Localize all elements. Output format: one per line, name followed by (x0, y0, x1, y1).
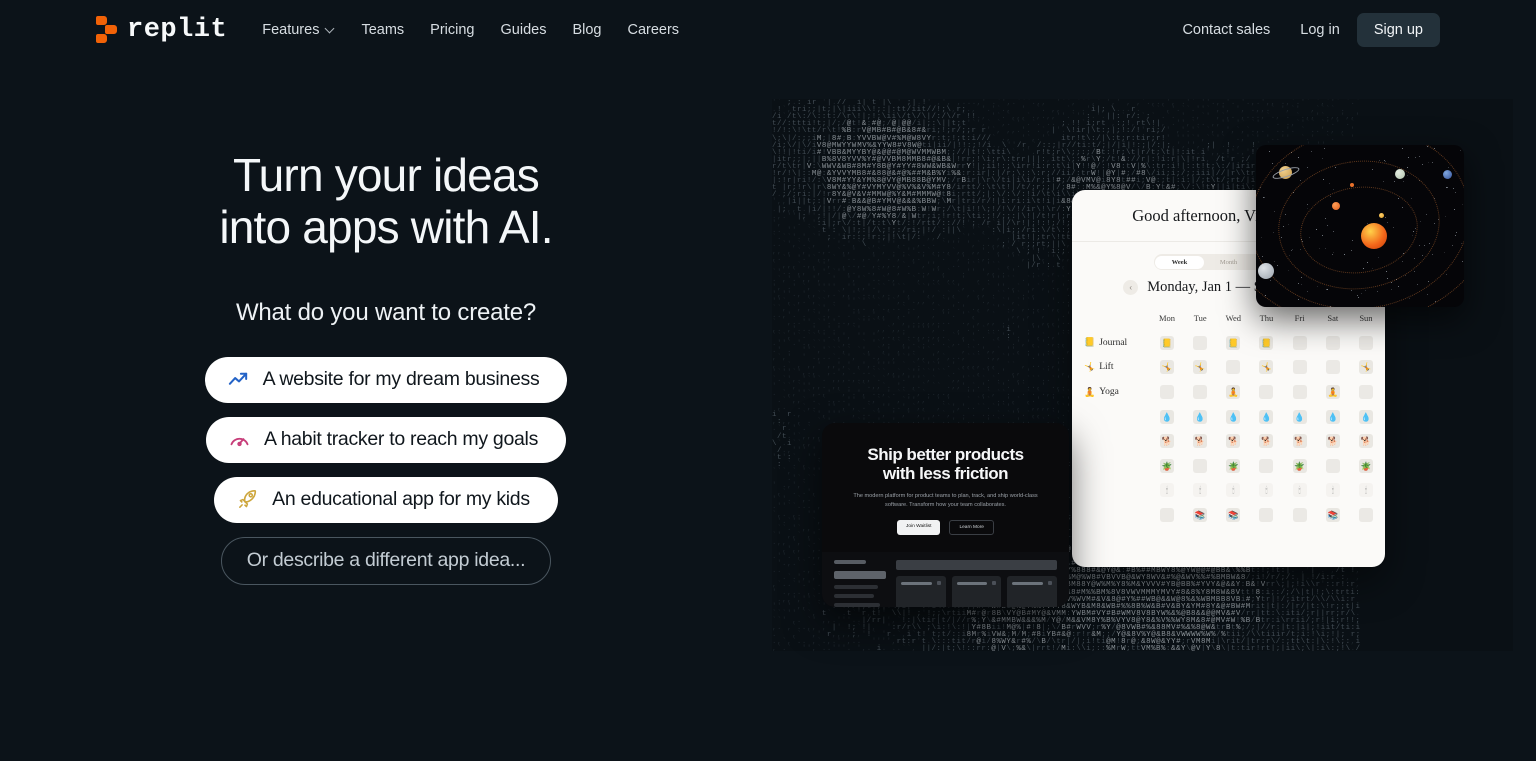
habit-day-cell[interactable]: 🪴 (1359, 459, 1373, 473)
product-card-actions: Join Waitlist Learn More (842, 520, 1049, 535)
habit-day-cell[interactable]: 📒 (1259, 336, 1273, 350)
planet-planet-moon (1258, 263, 1274, 279)
prompt-custom-idea[interactable]: Or describe a different app idea... (221, 537, 552, 585)
habit-day-cell[interactable]: 🕯 (1193, 483, 1207, 497)
habit-day-cell[interactable]: 🤸 (1359, 360, 1373, 374)
headline-line-1: Turn your ideas (219, 150, 552, 202)
prompt-educational-app-label: An educational app for my kids (272, 488, 530, 511)
habit-day-cell[interactable]: 🕯 (1226, 483, 1240, 497)
habit-day-cell[interactable]: 📚 (1193, 508, 1207, 522)
habit-day-cell[interactable] (1259, 385, 1273, 399)
nav-actions: Contact sales Log in Sign up (1169, 13, 1440, 47)
contact-sales-link[interactable]: Contact sales (1169, 16, 1283, 44)
prompt-website-business-label: A website for my dream business (263, 368, 540, 391)
brand-wordmark: replit (127, 15, 227, 45)
nav-item-guides[interactable]: Guides (488, 16, 560, 44)
product-card-app-preview (822, 552, 1069, 607)
habit-day-cell[interactable]: 🕯 (1160, 483, 1174, 497)
product-card-title-line-1: Ship better products (842, 445, 1049, 464)
habit-day-cell[interactable] (1293, 508, 1307, 522)
habit-day-cell[interactable] (1259, 508, 1273, 522)
habit-day-cell[interactable]: 🐕 (1359, 434, 1373, 448)
app-preview-main (896, 560, 1057, 607)
habit-day-cell[interactable]: 💧 (1160, 410, 1174, 424)
top-navigation-bar: replit Features Teams Pricing Guides Blo… (0, 0, 1536, 59)
app-preview-cards (896, 576, 1057, 607)
nav-item-features-label: Features (262, 22, 319, 38)
habit-day-cell[interactable]: 🕯 (1259, 483, 1273, 497)
habit-day-cell[interactable] (1160, 385, 1174, 399)
habit-day-cell[interactable] (1326, 459, 1340, 473)
chevron-down-icon (326, 25, 335, 34)
gauge-icon (228, 428, 251, 451)
habit-day-cell[interactable]: 💧 (1293, 410, 1307, 424)
habit-day-cell[interactable]: 💧 (1226, 410, 1240, 424)
prompt-suggestion-list: A website for my dream business A habit … (205, 357, 568, 585)
habit-day-cell[interactable]: 🐕 (1326, 434, 1340, 448)
habit-day-cell[interactable]: 🐕 (1259, 434, 1273, 448)
app-preview-card (896, 576, 946, 607)
habit-day-cell[interactable] (1193, 336, 1207, 350)
habit-day-header: Sat (1326, 311, 1340, 325)
habit-day-cell[interactable]: 🤸 (1160, 360, 1174, 374)
habit-day-cell[interactable]: 📚 (1226, 508, 1240, 522)
planet-planet-neptune (1443, 170, 1452, 179)
habit-day-cell[interactable] (1359, 385, 1373, 399)
habit-row: 📚📚📚 (1084, 503, 1373, 528)
prompt-website-business[interactable]: A website for my dream business (205, 357, 568, 403)
product-card-title-line-2: with less friction (842, 464, 1049, 483)
habit-row: 🕯🕯🕯🕯🕯🕯🕯 (1084, 478, 1373, 503)
nav-item-features[interactable]: Features (249, 16, 348, 44)
prompt-habit-tracker-label: A habit tracker to reach my goals (264, 428, 538, 451)
page-title: Turn your ideas into apps with AI. (219, 150, 552, 254)
habit-day-cell[interactable]: 🪴 (1226, 459, 1240, 473)
habit-day-header: Fri (1293, 311, 1307, 325)
hero-subheading: What do you want to create? (236, 299, 536, 327)
habit-day-cell[interactable]: 🐕 (1160, 434, 1174, 448)
habit-row: 💧💧💧💧💧💧💧 (1084, 404, 1373, 429)
habit-emoji-icon: 🤸 (1084, 362, 1095, 373)
join-waitlist-button[interactable]: Join Waitlist (897, 520, 940, 535)
habit-row-name: 📒Journal (1084, 337, 1160, 348)
habit-row-name: 🧘Yoga (1084, 387, 1160, 398)
habit-day-cell[interactable]: 🕯 (1359, 483, 1373, 497)
habit-day-cell[interactable]: 📒 (1160, 336, 1174, 350)
habit-day-cell[interactable] (1193, 459, 1207, 473)
habit-day-header: Sun (1359, 311, 1373, 325)
habit-day-cell[interactable] (1193, 385, 1207, 399)
habit-emoji-icon: 🧘 (1084, 387, 1095, 398)
nav-item-careers[interactable]: Careers (614, 16, 692, 44)
headline-line-2: into apps with AI. (219, 202, 552, 254)
habit-row: 📒Journal📒📒📒 (1084, 331, 1373, 356)
habit-day-cell[interactable]: 🧘 (1326, 385, 1340, 399)
habit-day-cell[interactable]: 🐕 (1226, 434, 1240, 448)
sign-up-button[interactable]: Sign up (1357, 13, 1440, 47)
trending-up-icon (227, 368, 250, 391)
habit-day-header: Thu (1259, 311, 1273, 325)
habit-day-cell[interactable] (1226, 360, 1240, 374)
habit-day-cell[interactable]: 💧 (1193, 410, 1207, 424)
habit-day-cell[interactable]: 🐕 (1193, 434, 1207, 448)
replit-logo-icon (96, 16, 118, 44)
planet-planet-mercury (1350, 183, 1354, 187)
nav-item-pricing[interactable]: Pricing (417, 16, 487, 44)
hero-left-column: Turn your ideas into apps with AI. What … (0, 150, 772, 585)
habit-day-cell[interactable]: 🪴 (1160, 459, 1174, 473)
habit-day-cell[interactable]: 🐕 (1293, 434, 1307, 448)
habit-day-cell[interactable] (1359, 508, 1373, 522)
habit-day-cell[interactable] (1293, 360, 1307, 374)
planet-planet-venus (1379, 213, 1384, 218)
habit-day-cell[interactable]: 🕯 (1293, 483, 1307, 497)
prompt-educational-app[interactable]: An educational app for my kids (214, 477, 558, 523)
habit-period-week[interactable]: Week (1155, 256, 1204, 269)
habit-day-cell[interactable]: 🪴 (1293, 459, 1307, 473)
log-in-link[interactable]: Log in (1287, 16, 1353, 44)
habit-row: 🤸Lift🤸🤸🤸🤸 (1084, 355, 1373, 380)
replit-logo-link[interactable]: replit (96, 15, 227, 45)
habit-day-cell[interactable] (1359, 336, 1373, 350)
habit-row: 🐕🐕🐕🐕🐕🐕🐕 (1084, 429, 1373, 454)
habit-day-cell[interactable]: 📚 (1326, 508, 1340, 522)
product-card-subtitle: The modern platform for product teams to… (842, 492, 1049, 510)
app-preview-card (1007, 576, 1057, 607)
product-card-title: Ship better products with less friction (842, 445, 1049, 483)
habit-emoji-icon: 📒 (1084, 337, 1095, 348)
habit-day-cell[interactable] (1326, 336, 1340, 350)
habit-day-cell[interactable]: 📒 (1226, 336, 1240, 350)
habit-day-cell[interactable] (1293, 336, 1307, 350)
solar-system-demo-card[interactable] (1256, 145, 1464, 307)
learn-more-button[interactable]: Learn More (949, 520, 994, 535)
habit-day-cell[interactable]: 🤸 (1259, 360, 1273, 374)
habit-row: 🧘Yoga🧘🧘 (1084, 380, 1373, 405)
chevron-left-icon[interactable]: ‹ (1123, 280, 1138, 295)
habit-day-cell[interactable] (1293, 385, 1307, 399)
habit-day-header: Mon (1160, 311, 1174, 325)
nav-item-blog[interactable]: Blog (559, 16, 614, 44)
habit-day-cell[interactable]: 💧 (1259, 410, 1273, 424)
habit-day-cell[interactable]: 🕯 (1326, 483, 1340, 497)
habit-day-header: Wed (1226, 311, 1240, 325)
habit-day-cell[interactable] (1326, 360, 1340, 374)
planet-planet-mars (1332, 202, 1340, 210)
habit-grid-header: MonTueWedThuFriSatSun (1084, 306, 1373, 331)
habit-day-cell[interactable] (1259, 459, 1273, 473)
rocket-icon (236, 488, 259, 511)
prompt-custom-idea-label: Or describe a different app idea... (247, 549, 526, 572)
habit-period-month[interactable]: Month (1204, 256, 1253, 269)
habit-grid: MonTueWedThuFriSatSun📒Journal📒📒📒🤸Lift🤸🤸🤸… (1072, 306, 1385, 527)
planet-planet-uranus (1395, 169, 1405, 179)
nav-item-teams[interactable]: Teams (348, 16, 417, 44)
habit-row: 🪴🪴🪴🪴 (1084, 454, 1373, 479)
habit-day-cell[interactable] (1160, 508, 1174, 522)
product-landing-demo-card[interactable]: Ship better products with less friction … (822, 423, 1069, 607)
habit-day-cell[interactable]: 🤸 (1193, 360, 1207, 374)
app-preview-sidebar (834, 560, 886, 607)
primary-nav-links: Features Teams Pricing Guides Blog Caree… (249, 16, 692, 44)
habit-day-cell[interactable]: 🧘 (1226, 385, 1240, 399)
planet-sun (1361, 223, 1387, 249)
habit-day-cell[interactable]: 💧 (1326, 410, 1340, 424)
prompt-habit-tracker[interactable]: A habit tracker to reach my goals (206, 417, 566, 463)
habit-day-header: Tue (1193, 311, 1207, 325)
habit-row-name: 🤸Lift (1084, 362, 1160, 373)
habit-day-cell[interactable]: 💧 (1359, 410, 1373, 424)
app-preview-card (952, 576, 1002, 607)
